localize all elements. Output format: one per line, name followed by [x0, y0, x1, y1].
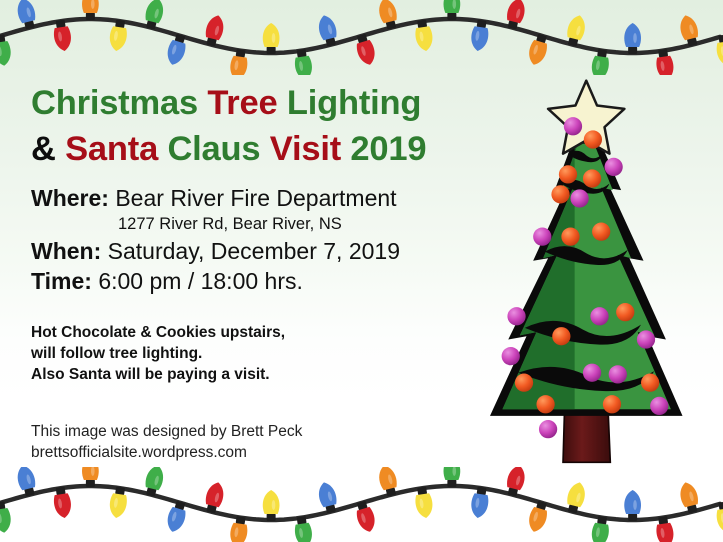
tree-ornament — [507, 307, 525, 325]
time-value: 6:00 pm / 18:00 hrs. — [98, 268, 303, 294]
venue-line: Where: Bear River Fire Department — [31, 183, 397, 213]
time-label: Time: — [31, 268, 92, 294]
date-value: Saturday, December 7, 2019 — [108, 238, 400, 264]
christmas-tree-illustration — [452, 74, 723, 464]
bulb-socket — [86, 480, 95, 488]
tree-ornament — [650, 397, 668, 415]
bulb-glass — [677, 13, 699, 40]
designer-credit: This image was designed by Brett Peck br… — [31, 421, 302, 463]
credit-line-1: This image was designed by Brett Peck — [31, 421, 302, 442]
bulb-glass — [506, 0, 528, 24]
tree-ornament — [605, 158, 623, 176]
bulb-socket — [447, 480, 456, 488]
bulb-glass — [164, 506, 187, 534]
bulb-glass — [263, 490, 280, 514]
light-bulb — [624, 490, 641, 521]
title-word-santa: Santa — [65, 130, 167, 168]
tree-ornament — [641, 374, 659, 392]
tree-ornament — [536, 395, 554, 413]
light-bulb — [0, 501, 13, 534]
poster-title-line2: & Santa Claus Visit 2019 — [31, 126, 501, 172]
venue-label: Where: — [31, 185, 109, 211]
bulb-glass — [294, 522, 314, 542]
credit-line-2: brettsofficialsite.wordpress.com — [31, 442, 302, 463]
bulb-glass — [655, 522, 675, 542]
bulb-glass — [228, 522, 248, 542]
bulb-glass — [526, 39, 549, 67]
bulb-glass — [414, 493, 434, 519]
bulb-glass — [82, 467, 99, 480]
title-word-ampersand: & — [31, 130, 65, 168]
light-bulb — [263, 490, 280, 521]
tree-ornament — [616, 303, 634, 321]
tree-ornament — [583, 364, 601, 382]
tree-ornament — [637, 330, 655, 348]
tree-ornament — [561, 228, 579, 246]
bulb-glass — [566, 480, 588, 507]
bulb-glass — [624, 490, 641, 514]
tree-ornament — [502, 347, 520, 365]
tree-ornament — [609, 365, 627, 383]
bulb-glass — [566, 13, 588, 40]
tree-ornament — [564, 117, 582, 135]
time-line: Time: 6:00 pm / 18:00 hrs. — [31, 266, 303, 296]
bulb-glass — [655, 55, 675, 75]
tree-ornament — [533, 228, 551, 246]
tree-ornament — [583, 169, 601, 187]
bulb-glass — [469, 493, 489, 519]
bulb-socket — [267, 514, 276, 522]
tree-ornament — [590, 307, 608, 325]
bulb-glass — [444, 467, 461, 480]
title-word-claus: Claus — [167, 130, 269, 168]
bulb-glass — [144, 467, 166, 491]
bulb-glass — [15, 467, 37, 491]
bulb-glass — [624, 23, 641, 47]
venue-address: 1277 River Rd, Bear River, NS — [118, 213, 342, 235]
bulb-glass — [0, 508, 13, 534]
bulb-glass — [590, 522, 610, 542]
bulb-highlight — [272, 500, 276, 510]
christmas-tree-svg — [452, 74, 723, 464]
bulb-glass — [526, 506, 549, 534]
title-word-christmas: Christmas — [31, 84, 207, 122]
title-word-tree: Tree — [207, 84, 287, 122]
poster-title-line1: Christmas Tree Lighting — [31, 80, 501, 126]
christmas-poster: Christmas Tree Lighting & Santa Claus Vi… — [0, 0, 723, 542]
title-word-visit: Visit — [270, 130, 351, 168]
light-bulb — [624, 23, 641, 54]
tree-ornament — [603, 395, 621, 413]
bulb-highlight — [633, 500, 637, 510]
date-line: When: Saturday, December 7, 2019 — [31, 236, 400, 266]
title-word-lighting: Lighting — [287, 84, 421, 122]
bulb-glass — [590, 55, 610, 75]
string-lights-bottom — [0, 467, 723, 542]
note-line-1: Hot Chocolate & Cookies upstairs, — [31, 322, 285, 343]
bulb-glass — [204, 480, 226, 507]
title-word-year: 2019 — [350, 130, 426, 168]
tree-ornament — [584, 130, 602, 148]
text-column: Christmas Tree Lighting & Santa Claus Vi… — [0, 0, 500, 542]
tree-ornament — [570, 189, 588, 207]
tree-ornament — [592, 223, 610, 241]
venue-value: Bear River Fire Department — [115, 185, 396, 211]
note-line-3: Also Santa will be paying a visit. — [31, 364, 285, 385]
bulb-glass — [376, 467, 398, 491]
tree-ornament — [559, 165, 577, 183]
bulb-socket — [628, 514, 637, 522]
bulb-glass — [316, 480, 338, 507]
tree-ornament — [552, 327, 570, 345]
tree-ornament — [539, 420, 557, 438]
bulb-socket — [628, 47, 637, 55]
bulb-glass — [355, 506, 378, 534]
bulb-glass — [677, 480, 699, 507]
bulb-glass — [108, 493, 128, 519]
string-lights-bottom-svg — [0, 467, 723, 542]
bulb-glass — [53, 493, 73, 519]
refreshments-note: Hot Chocolate & Cookies upstairs, will f… — [31, 322, 285, 385]
bulb-glass — [506, 467, 528, 491]
tree-ornament — [551, 185, 569, 203]
date-label: When: — [31, 238, 101, 264]
note-line-2: will follow tree lighting. — [31, 343, 285, 364]
bulb-highlight — [633, 33, 637, 43]
tree-ornament — [515, 374, 533, 392]
